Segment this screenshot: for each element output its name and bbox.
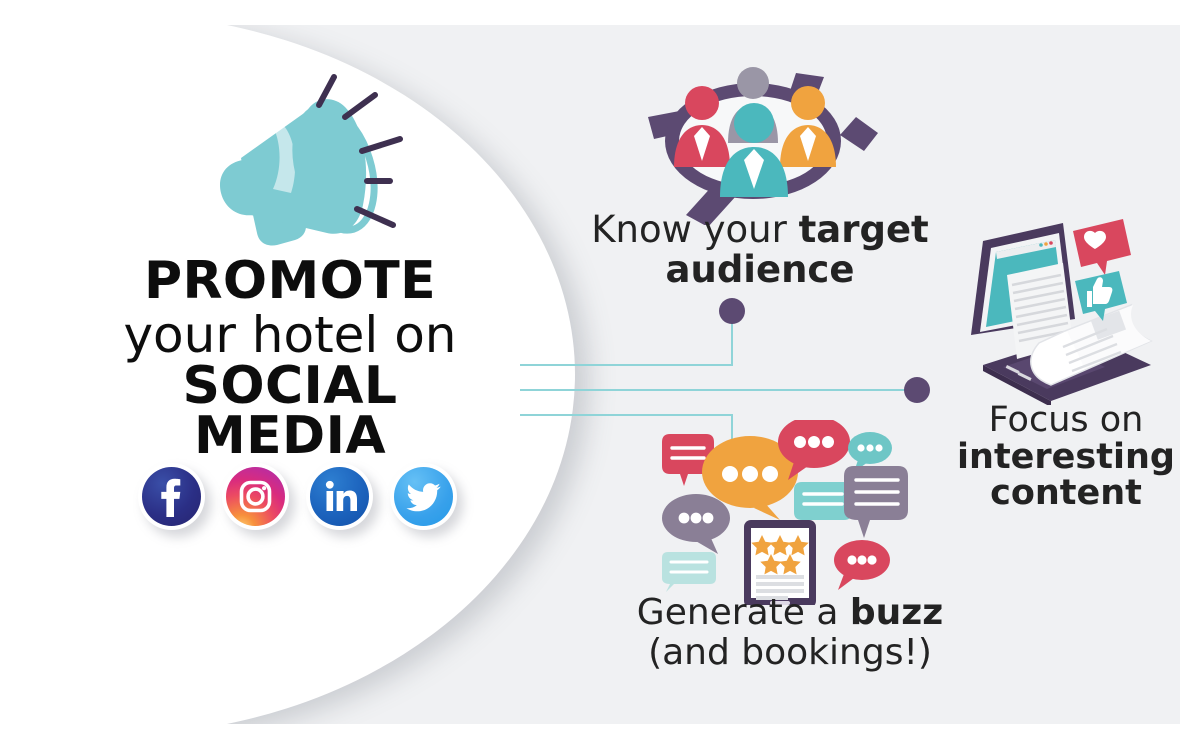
caption-generate-buzz: Generate a buzz (and bookings!) [605,595,975,671]
magnifying-glass-people-icon [628,55,878,225]
caption-audience-bold-1: target [799,208,929,251]
caption-content-bold-2: content [935,476,1180,512]
speech-bubbles-tablet-rating-icon [648,420,908,605]
node-audience-dot [719,298,745,324]
caption-content-bold-1: interesting [935,440,1180,476]
bubble-purplegray-dots [662,494,730,554]
caption-interesting-content: Focus on interesting content [935,403,1180,512]
caption-buzz-bold-1: buzz [850,592,943,633]
bubble-purple-lines [844,466,908,538]
infographic-canvas: PROMOTE your hotel on SOCIAL MEDIA [20,25,1180,724]
caption-buzz-line-2: (and bookings!) [605,635,975,672]
caption-buzz-regular: Generate a [637,592,850,633]
bubble-red-dots-2 [834,540,890,590]
caption-audience-bold-2: audience [580,251,940,289]
caption-target-audience: Know your target audience [580,211,940,288]
node-content-dot [904,377,930,403]
laptop-article-likes-icon [955,215,1180,405]
caption-audience-regular: Know your [591,208,798,251]
bubble-paleteal-lines [662,552,716,592]
caption-content-regular: Focus on [935,403,1180,439]
